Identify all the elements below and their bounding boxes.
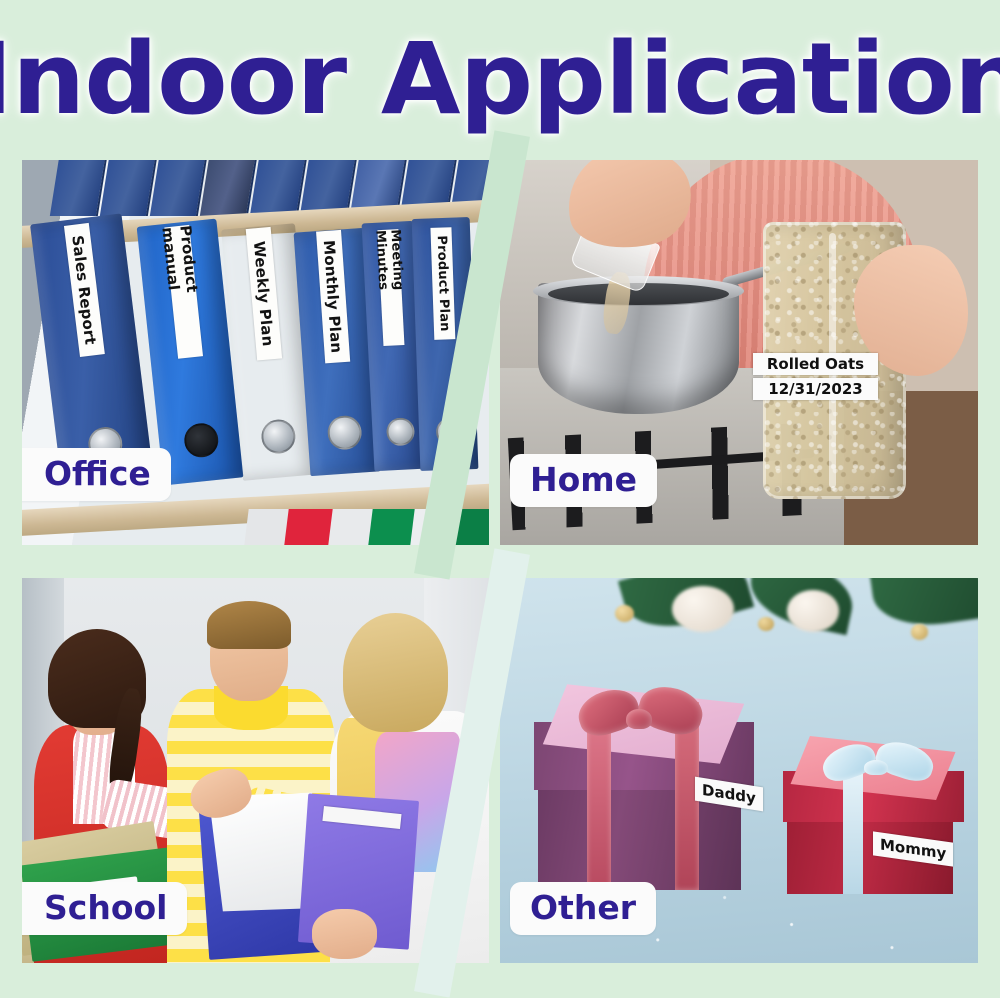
- gift-box-daddy-bow: [578, 682, 706, 750]
- badge-home: Home: [510, 454, 657, 507]
- gallery-row-bottom: School: [22, 578, 978, 963]
- badge-other: Other: [510, 882, 656, 935]
- badge-school: School: [22, 882, 187, 935]
- open-binder: [204, 794, 409, 956]
- gift-box-mommy: Mommy: [787, 744, 964, 894]
- jar-label-name: Rolled Oats: [753, 353, 877, 375]
- gallery-row-top: Sales Report Product manual Weekly Plan …: [22, 160, 978, 545]
- panel-other[interactable]: Daddy Mommy Other: [500, 578, 978, 963]
- binder-ring-hole: [260, 418, 297, 455]
- jar-label: Rolled Oats 12/31/2023: [753, 353, 877, 403]
- panel-office[interactable]: Sales Report Product manual Weekly Plan …: [22, 160, 489, 545]
- binder-label: Monthly Plan: [316, 230, 350, 363]
- page-title: Indoor Application: [0, 30, 1000, 129]
- gift-box-mommy-bow: [822, 738, 939, 792]
- pinecone-decor: [787, 590, 840, 632]
- panel-home[interactable]: Rolled Oats 12/31/2023 Home: [500, 160, 978, 545]
- student-center-hair: [207, 601, 291, 649]
- badge-office: Office: [22, 448, 171, 501]
- gift-box-daddy: Daddy: [538, 690, 758, 890]
- binder-label: Product Plan: [430, 228, 455, 341]
- pinecone-decor: [672, 586, 734, 632]
- application-gallery: Sales Report Product manual Weekly Plan …: [22, 160, 978, 946]
- page-header: Indoor Application: [0, 0, 1000, 152]
- binder-label: Weekly Plan: [246, 227, 282, 361]
- student-right-hair: [343, 613, 448, 732]
- holding-hand: [312, 909, 377, 959]
- gold-bauble-icon: [615, 605, 634, 622]
- panel-school[interactable]: School: [22, 578, 489, 963]
- gold-bauble-icon: [911, 624, 928, 639]
- binder-ring-hole: [327, 415, 363, 451]
- binder-ring-hole: [183, 422, 220, 459]
- binder-ring-hole: [386, 417, 415, 446]
- binder-label: Meeting Minutes: [377, 229, 404, 346]
- indoor-application-infographic: { "page": { "title": "Indoor Application…: [0, 0, 1000, 971]
- binder-label: Product manual: [164, 225, 203, 359]
- jar-label-date: 12/31/2023: [753, 378, 877, 400]
- binder-label: Sales Report: [64, 223, 105, 357]
